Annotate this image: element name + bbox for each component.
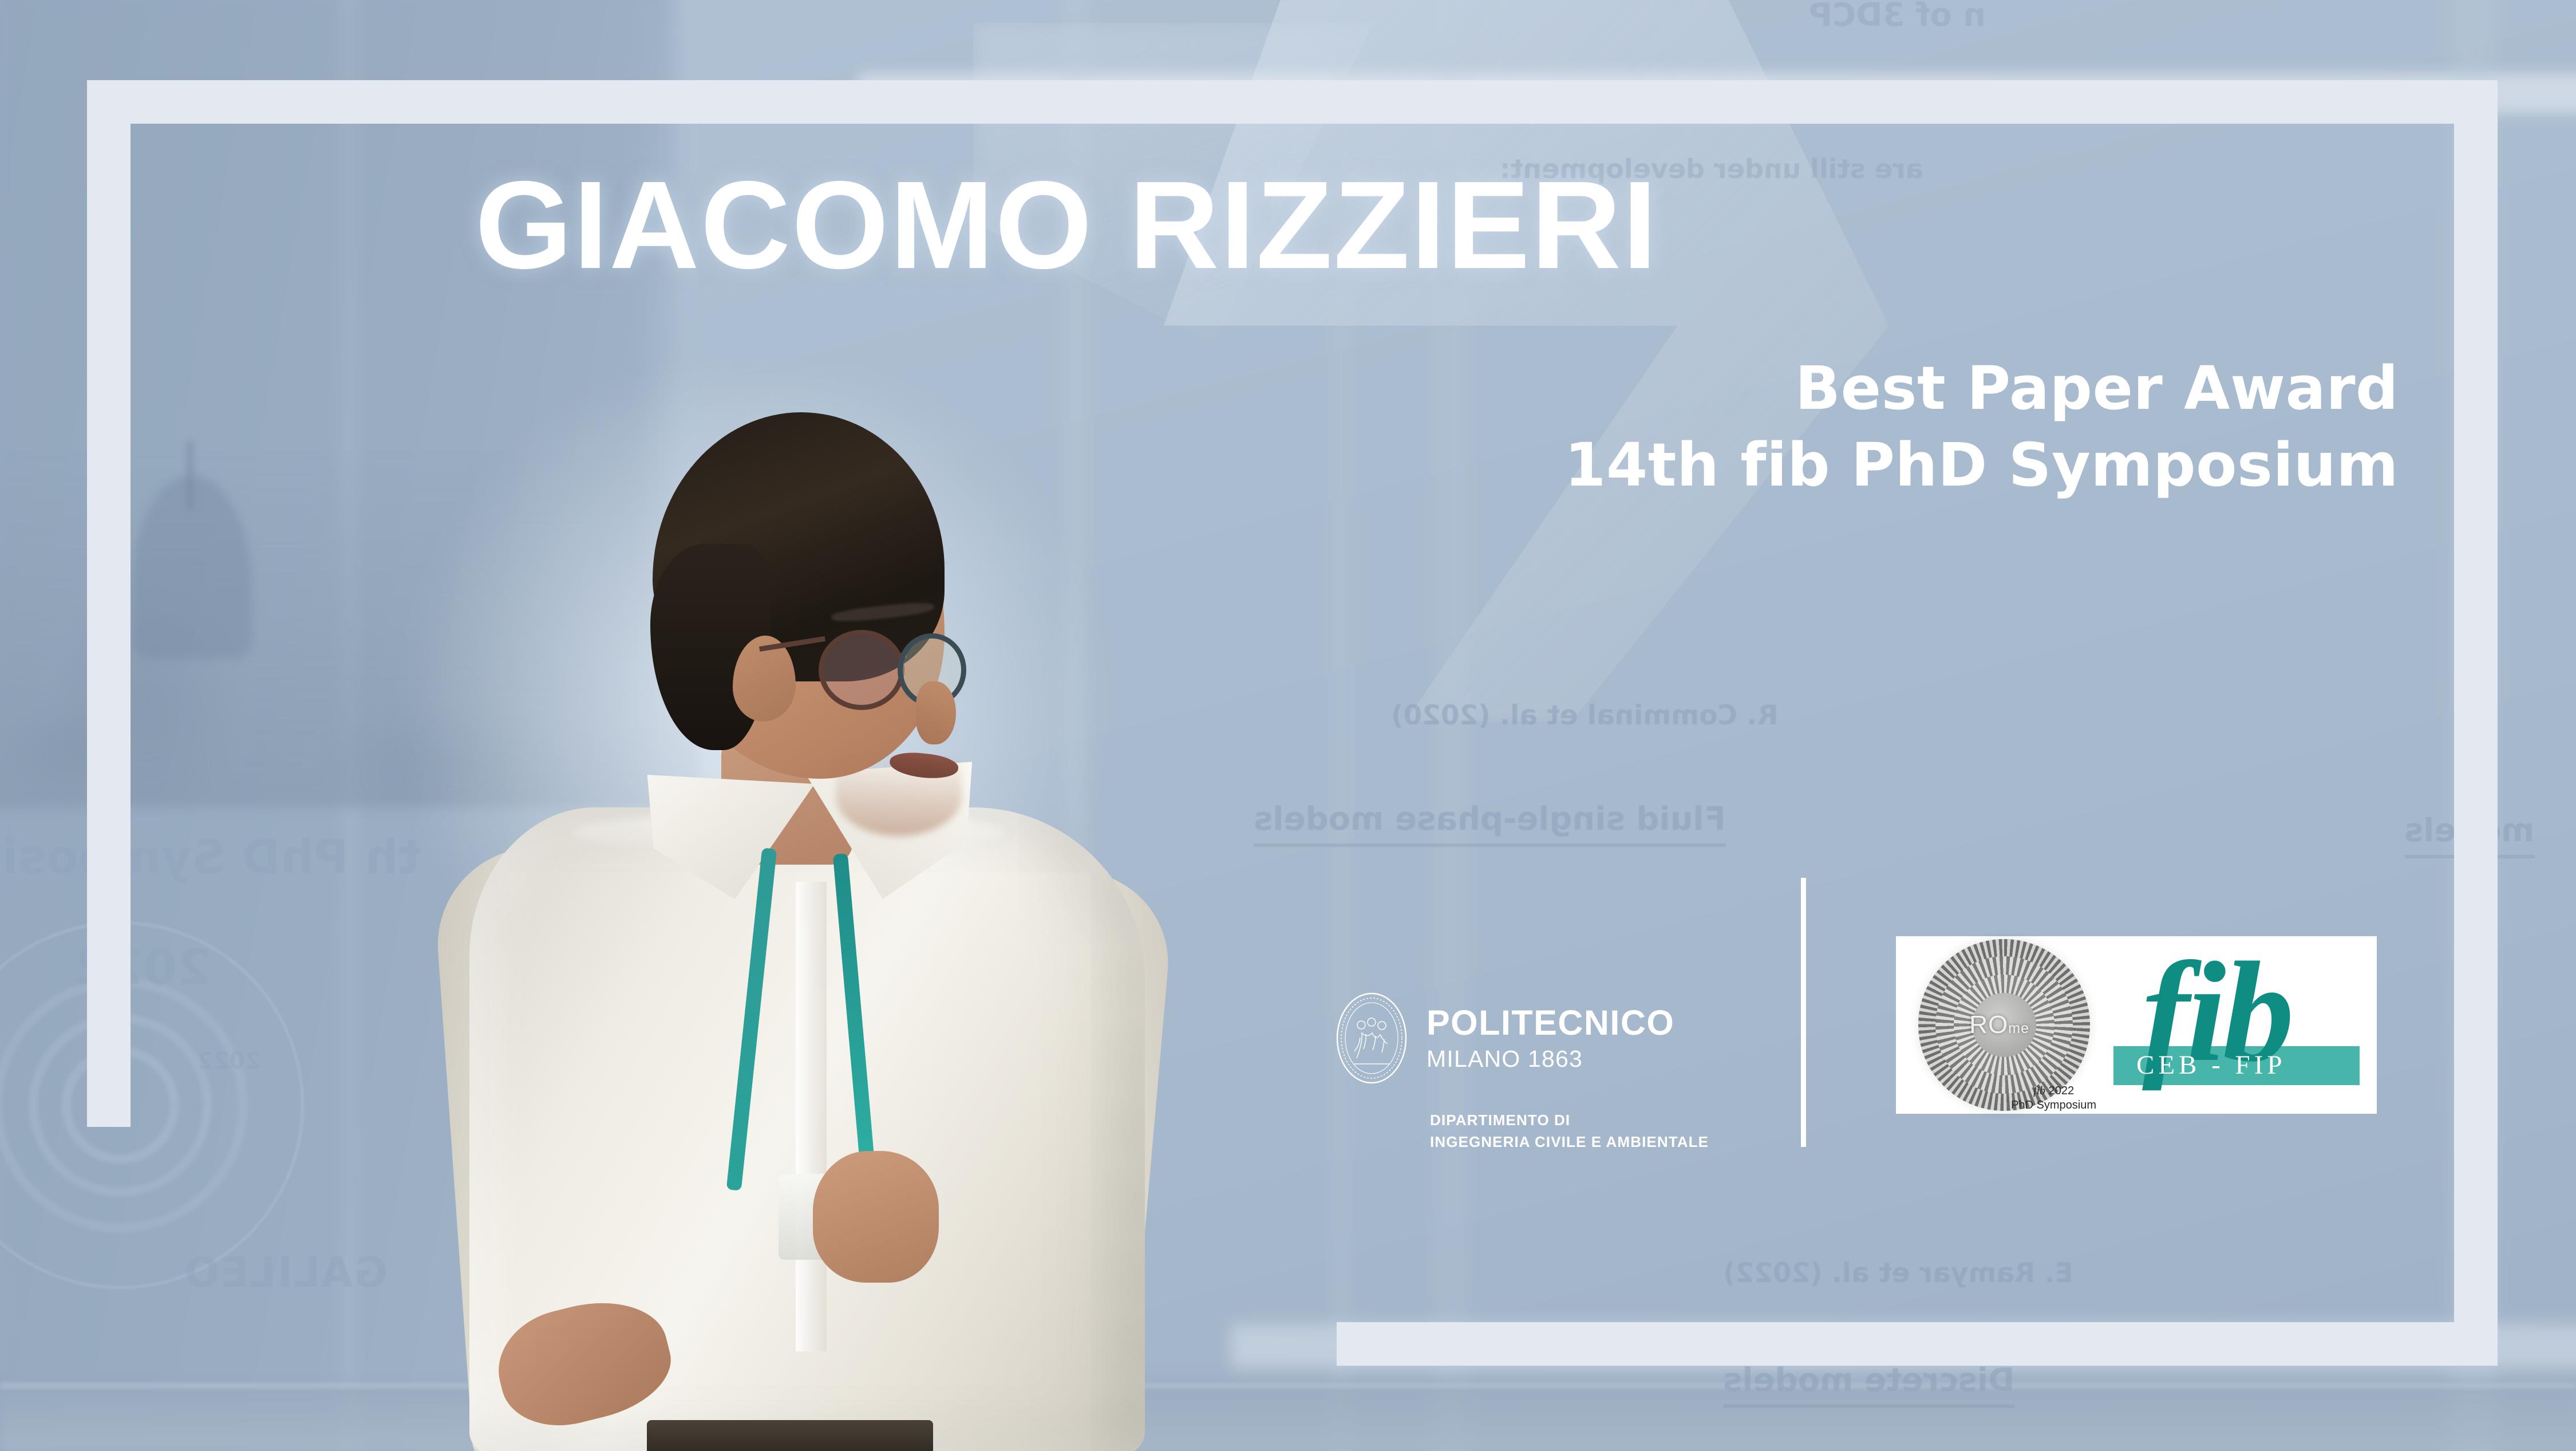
fib-ceb-fip-logo: fib CEB - FIP: [2104, 945, 2363, 1105]
slide-text-discrete-models: Discrete models: [1723, 1362, 2014, 1408]
event-label: 14th fib PhD Symposium: [1564, 432, 2399, 498]
background-spire-shape: [186, 441, 194, 510]
politecnico-city-year: MILANO 1863: [1427, 1047, 1674, 1071]
slide-text-3dcp: n of 3DCP: [1809, 0, 1986, 34]
speaker-chin-shadow: [836, 756, 962, 836]
award-announcement-card: n of 3DCP are still under development: R…: [0, 0, 2576, 1451]
speaker-photo: [401, 412, 1259, 1451]
speaker-belt: [647, 1420, 933, 1451]
department-line-1: DIPARTIMENTO DI: [1430, 1110, 1769, 1131]
frame-border-left: [87, 80, 131, 1127]
speaker-shirt-placket: [796, 882, 827, 1351]
slide-text-phd-symposium-left: th PhD Symposium: [0, 830, 421, 885]
logo-divider: [1801, 878, 1806, 1147]
speaker-raised-hand: [813, 1151, 939, 1283]
fib-symposium-logo-card: ROme fib 2022 PhD Symposium fib CEB - FI…: [1896, 936, 2377, 1114]
rome-wordmark-main: RO: [1969, 1011, 2008, 1039]
politecnico-logo: POLITECNICO MILANO 1863 DIPARTIMENTO DI …: [1334, 989, 1769, 1153]
rome-wordmark: ROme: [1969, 1011, 2029, 1039]
department-line-2: INGEGNERIA CIVILE E AMBIENTALE: [1430, 1131, 1769, 1153]
caption-fib-italic: fib: [2033, 1085, 2045, 1097]
speaker-nose: [916, 681, 956, 744]
caption-symposium: PhD Symposium: [2011, 1098, 2096, 1113]
caption-year: 2022: [2049, 1085, 2075, 1097]
award-label: Best Paper Award: [1564, 355, 2399, 421]
rome-wordmark-sub: me: [2008, 1020, 2029, 1036]
politecnico-seal-icon: [1334, 989, 1409, 1087]
frame-border-top: [87, 80, 2498, 124]
slide-text-year-small: 2022: [197, 1048, 261, 1074]
slide-text-ramyar-citation: E. Ramyar et al. (2022): [1723, 1257, 2073, 1289]
glasses-lens-near: [819, 630, 904, 710]
frame-border-bottom: [1337, 1322, 2498, 1366]
speaker-head: [647, 412, 967, 825]
slide-text-comminal-citation: R. Comminal et al. (2020): [1391, 700, 1778, 731]
pantheon-oculus-icon: ROme fib 2022 PhD Symposium: [1910, 936, 2099, 1114]
page-title: GIACOMO RIZZIERI: [475, 163, 1658, 288]
politecnico-name: POLITECNICO: [1427, 1006, 1674, 1040]
politecnico-department: DIPARTIMENTO DI INGEGNERIA CIVILE E AMBI…: [1430, 1110, 1769, 1153]
slide-text-fluid-models: Fluid single-phase models: [1254, 801, 1726, 847]
symposium-caption: fib 2022 PhD Symposium: [2011, 1084, 2096, 1113]
ceb-fip-text: CEB - FIP: [2136, 1050, 2286, 1081]
award-subtitle-block: Best Paper Award 14th fib PhD Symposium: [1564, 355, 2399, 499]
slide-text-galileo: GALILEO: [183, 1248, 388, 1296]
frame-border-right: [2454, 80, 2498, 1366]
